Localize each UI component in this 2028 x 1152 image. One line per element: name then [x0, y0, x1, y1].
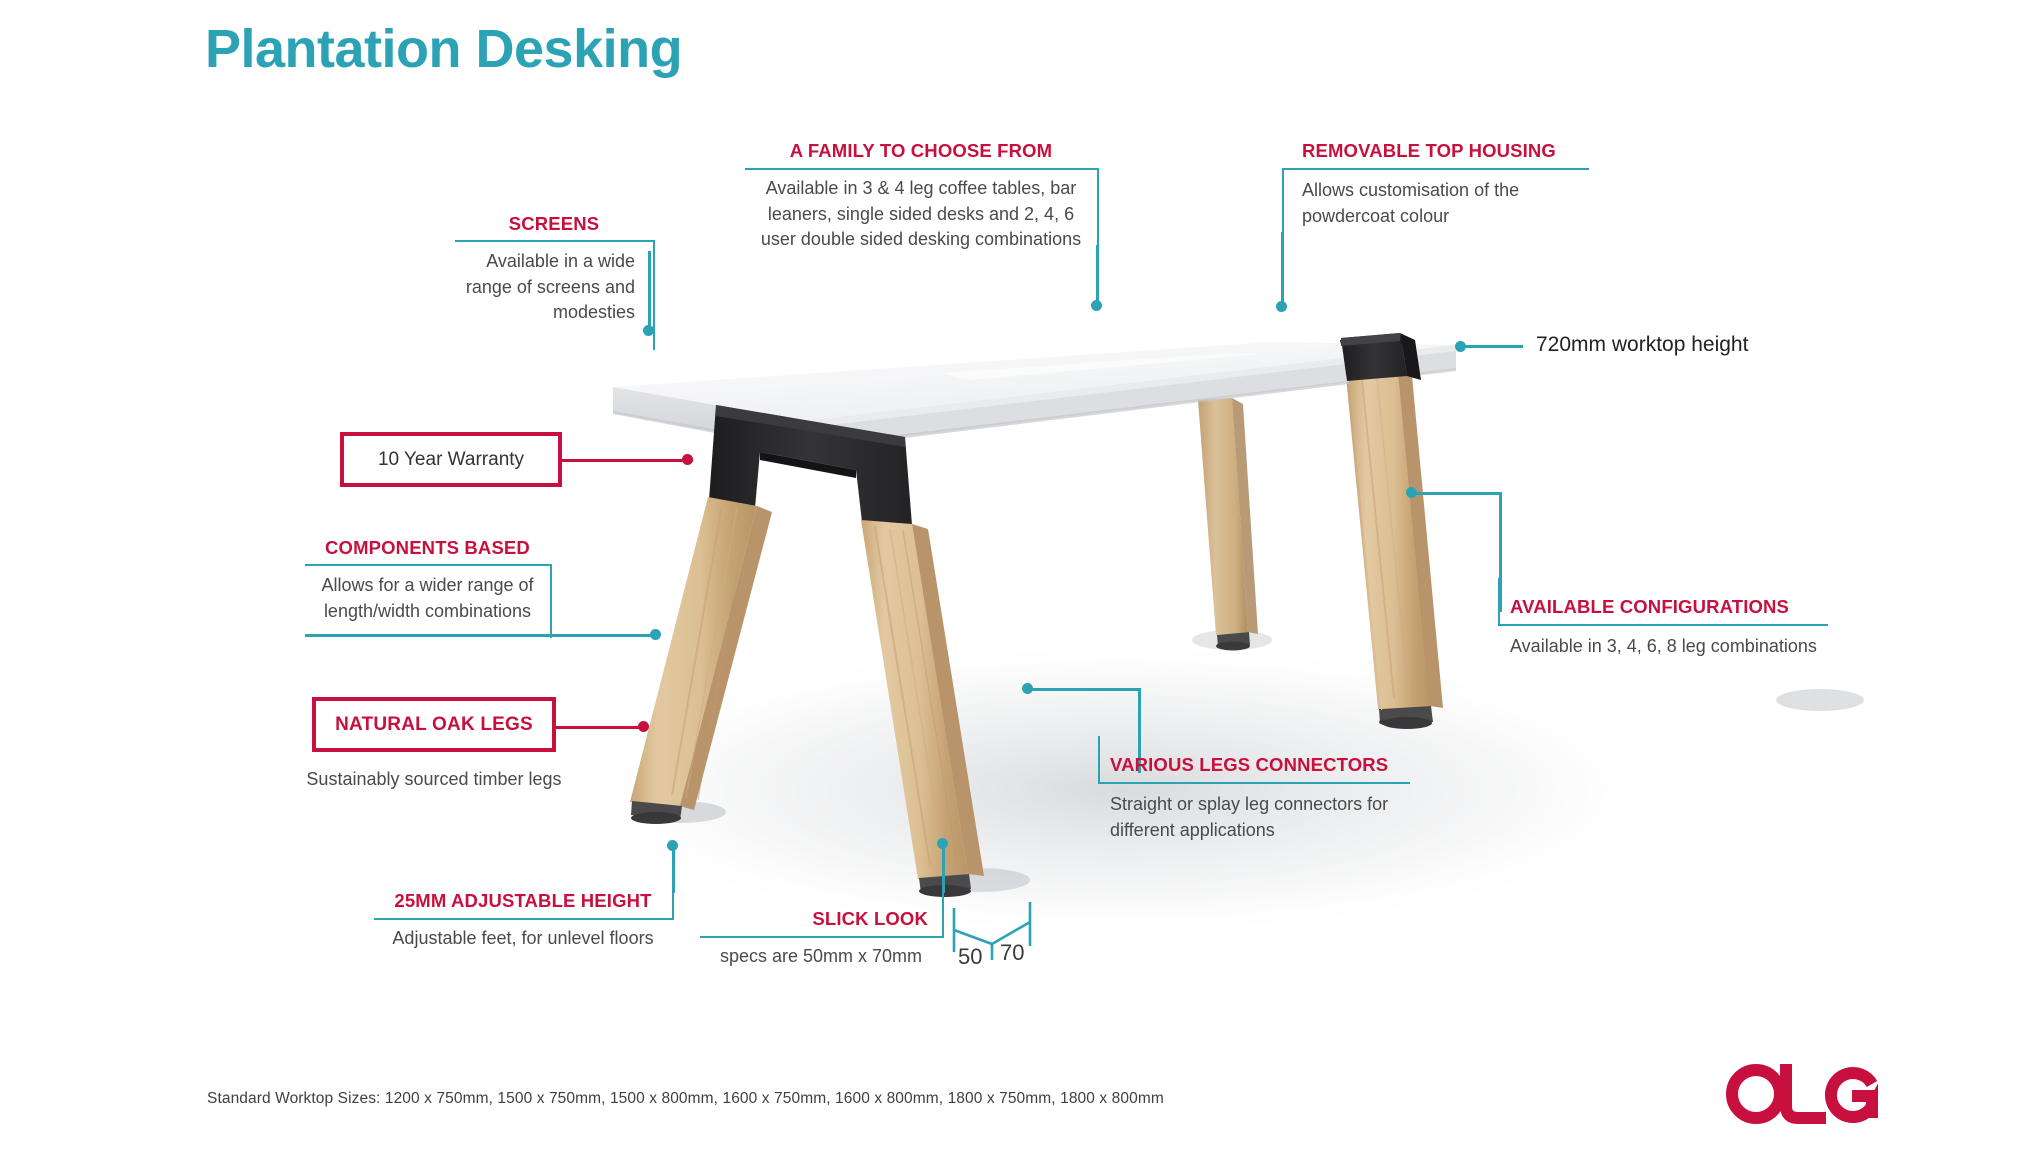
- connector-dot-config: [1406, 487, 1417, 498]
- connector-dot-legsconn: [1022, 683, 1033, 694]
- callout-screens-title: SCREENS: [455, 213, 653, 235]
- oak-legs-caption: Sustainably sourced timber legs: [248, 767, 620, 793]
- callout-legs-connectors-rule: [1098, 736, 1410, 784]
- warranty-label: 10 Year Warranty: [378, 449, 524, 471]
- connector-oaklegs: [556, 726, 648, 729]
- warranty-box[interactable]: 10 Year Warranty: [340, 432, 562, 487]
- dimension-width-label: 50: [958, 944, 982, 970]
- standard-sizes-note: Standard Worktop Sizes: 1200 x 750mm, 15…: [207, 1090, 1164, 1108]
- callout-components-title: COMPONENTS BASED: [305, 537, 550, 559]
- callout-housing-body: Allows customisation of the powdercoat c…: [1282, 178, 1560, 229]
- callout-screens-body: Available in a wide range of screens and…: [455, 249, 653, 326]
- connector-dot-components: [650, 629, 661, 640]
- connector-dot-slick: [937, 838, 948, 849]
- callout-slick: SLICK LOOK specs are 50mm x 70mm: [700, 908, 942, 970]
- callout-slick-rule: [700, 868, 944, 938]
- callout-family: A FAMILY TO CHOOSE FROM Available in 3 &…: [745, 140, 1097, 253]
- connector-warranty: [560, 459, 693, 462]
- callout-adjustable-rule: [374, 848, 674, 920]
- page-title: Plantation Desking: [205, 18, 682, 80]
- callout-legs-connectors-body: Straight or splay leg connectors for dif…: [1098, 792, 1404, 843]
- oak-legs-box[interactable]: NATURAL OAK LEGS: [312, 697, 556, 752]
- callout-legs-connectors: VARIOUS LEGS CONNECTORS Straight or spla…: [1098, 754, 1408, 843]
- callout-configurations-body: Available in 3, 4, 6, 8 leg combinations: [1498, 634, 1826, 660]
- callout-components: COMPONENTS BASED Allows for a wider rang…: [305, 537, 550, 624]
- callout-family-body: Available in 3 & 4 leg coffee tables, ba…: [745, 176, 1097, 253]
- callout-adjustable-body: Adjustable feet, for unlevel floors: [374, 926, 672, 952]
- callout-housing-title: REMOVABLE TOP HOUSING: [1282, 140, 1592, 162]
- callout-family-title: A FAMILY TO CHOOSE FROM: [745, 140, 1097, 162]
- connector-dot-warranty: [682, 454, 693, 465]
- callout-configurations-rule: [1498, 578, 1828, 626]
- callout-configurations: AVAILABLE CONFIGURATIONS Available in 3,…: [1498, 596, 1828, 660]
- callout-slick-body: specs are 50mm x 70mm: [700, 944, 942, 970]
- callout-adjustable: 25MM ADJUSTABLE HEIGHT Adjustable feet, …: [374, 890, 672, 952]
- callout-housing: REMOVABLE TOP HOUSING Allows customisati…: [1282, 140, 1592, 229]
- infographic-page: Plantation Desking: [0, 0, 2028, 1152]
- oak-legs-label: NATURAL OAK LEGS: [335, 714, 533, 736]
- callout-components-body: Allows for a wider range of length/width…: [305, 573, 550, 624]
- connector-dot-housing: [1276, 301, 1287, 312]
- callout-screens: SCREENS Available in a wide range of scr…: [455, 213, 653, 326]
- worktop-height-note: 720mm worktop height: [1536, 333, 1748, 357]
- connector-dot-oaklegs: [638, 721, 649, 732]
- dimension-depth-label: 70: [1000, 940, 1024, 966]
- connector-config-h: [1414, 492, 1502, 495]
- olg-logo[interactable]: [1724, 1062, 1884, 1126]
- oak-legs-caption-wrap: Sustainably sourced timber legs: [248, 767, 620, 793]
- connector-legsconn-h1: [1030, 688, 1140, 691]
- connector-worktop-height: [1463, 345, 1523, 348]
- connector-dot-family: [1091, 300, 1102, 311]
